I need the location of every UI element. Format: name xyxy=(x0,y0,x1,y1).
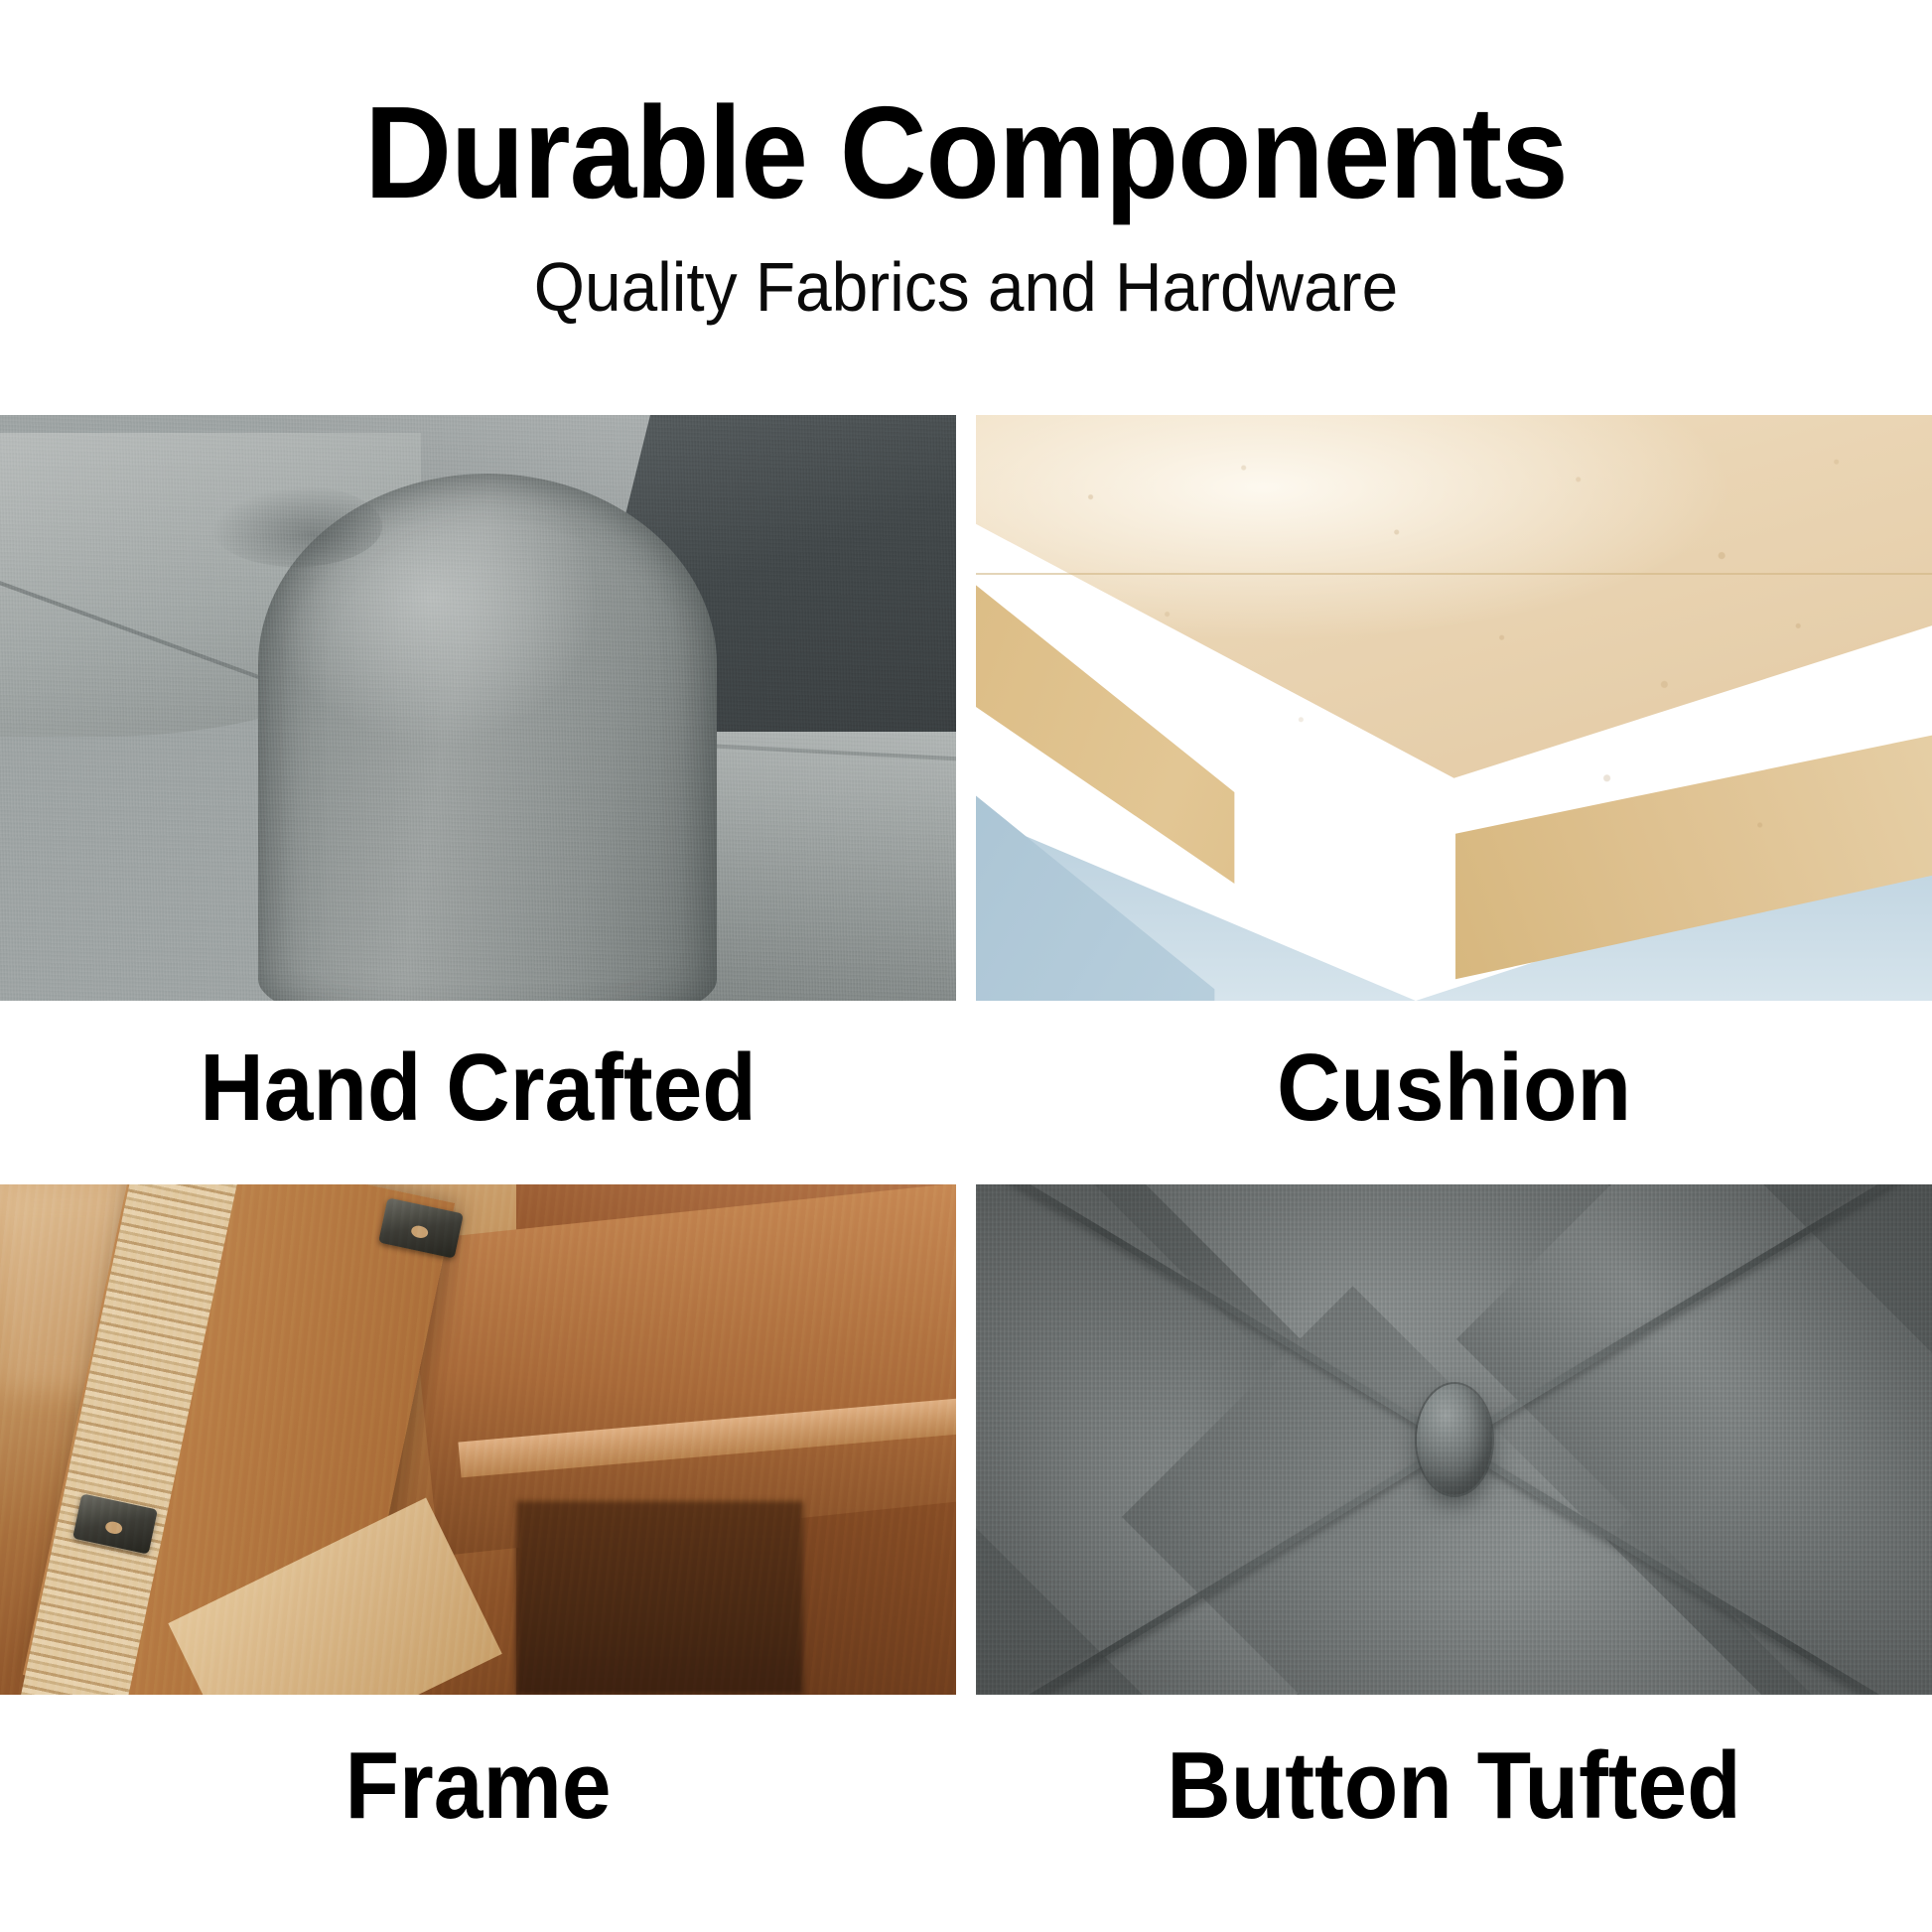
caption-cushion: Cushion xyxy=(1010,1040,1899,1136)
page-subtitle: Quality Fabrics and Hardware xyxy=(58,252,1873,322)
feature-grid: Hand Crafted Cushion xyxy=(0,415,1932,1755)
header: Durable Components Quality Fabrics and H… xyxy=(0,0,1932,397)
caption-hand-crafted: Hand Crafted xyxy=(34,1040,923,1136)
caption-button-tufted: Button Tufted xyxy=(1010,1738,1899,1834)
photo-button-tufted xyxy=(976,1184,1932,1695)
caption-frame: Frame xyxy=(34,1738,923,1834)
infographic-page: Durable Components Quality Fabrics and H… xyxy=(0,0,1932,1932)
photo-frame xyxy=(0,1184,956,1695)
upholstery-button xyxy=(1417,1384,1492,1495)
photo-hand-crafted xyxy=(0,415,956,1001)
velvet-nap-texture xyxy=(0,415,956,1001)
page-title: Durable Components xyxy=(77,87,1855,218)
feature-cell-button-tufted: Button Tufted xyxy=(976,1184,1932,1834)
feature-cell-cushion: Cushion xyxy=(976,415,1932,1136)
photo-cushion xyxy=(976,415,1932,1001)
feature-cell-hand-crafted: Hand Crafted xyxy=(0,415,956,1136)
wood-grain-texture xyxy=(0,1184,956,1695)
foam-pore-texture xyxy=(976,415,1932,1001)
feature-cell-frame: Frame xyxy=(0,1184,956,1834)
